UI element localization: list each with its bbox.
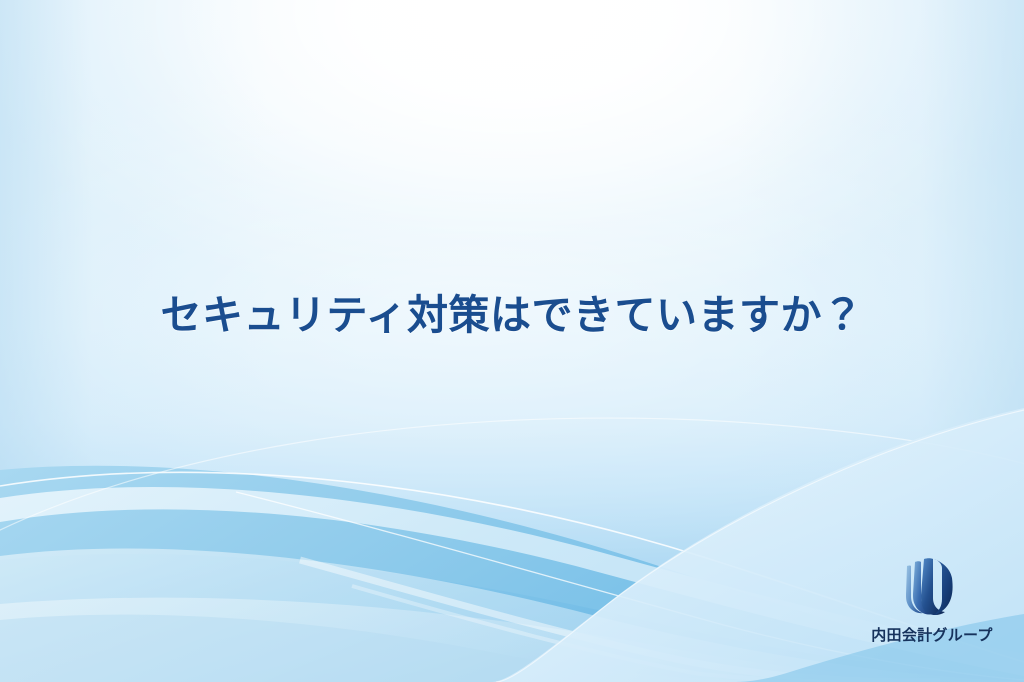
company-logo-text: 内田会計グループ bbox=[862, 624, 1002, 645]
logo-shield-right bbox=[934, 559, 953, 615]
uchida-u-shield-mark-icon bbox=[898, 556, 960, 622]
slide-title: セキュリティ対策はできていますか？ bbox=[0, 292, 1024, 339]
presentation-slide: セキュリティ対策はできていますか？ bbox=[0, 0, 1024, 682]
company-logo: 内田会計グループ bbox=[862, 556, 1002, 656]
